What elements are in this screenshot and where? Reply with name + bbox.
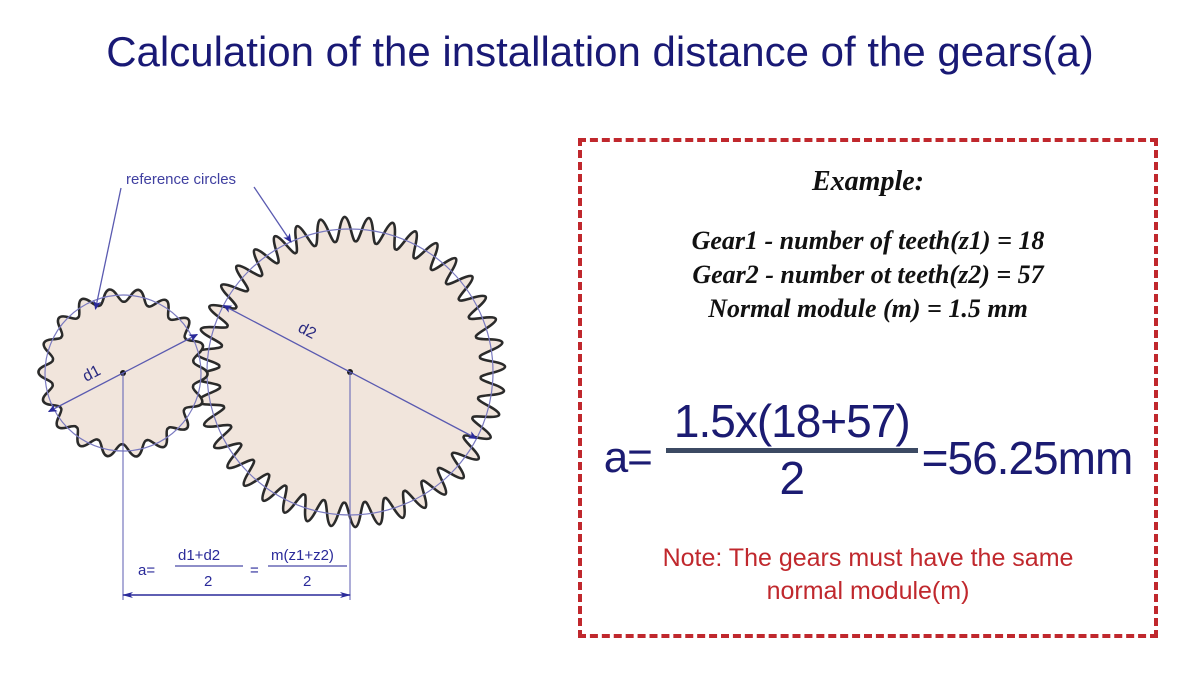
page-title: Calculation of the installation distance…	[0, 28, 1200, 76]
reference-leader-right	[254, 187, 291, 242]
note-line-1: Note: The gears must have the same	[582, 542, 1154, 575]
example-equation: a= 1.5x(18+57) 2 =56.25mm	[582, 397, 1154, 503]
formula-denominator-2: 2	[303, 573, 311, 590]
given-line-gear1: Gear1 - number of teeth(z1) = 18	[582, 224, 1154, 258]
example-heading: Example:	[582, 166, 1154, 198]
equation-fraction: 1.5x(18+57) 2	[666, 397, 918, 503]
given-line-module: Normal module (m) = 1.5 mm	[582, 292, 1154, 326]
given-line-gear2: Gear2 - number ot teeth(z2) = 57	[582, 258, 1154, 292]
note-text: Note: The gears must have the same norma…	[582, 542, 1154, 608]
gear-diagram: d1 d2 reference circles a= d1+d2 2 = m(z…	[0, 130, 560, 650]
formula-numerator-1: d1+d2	[178, 547, 220, 564]
equation-lhs: a=	[604, 420, 666, 480]
gear-diagram-svg: d1 d2 reference circles a= d1+d2 2 = m(z…	[0, 130, 560, 650]
equation-denominator: 2	[779, 454, 804, 502]
center-distance-formula: a= d1+d2 2 = m(z1+z2) 2	[138, 547, 347, 590]
formula-equals: =	[250, 562, 259, 579]
note-line-2: normal module(m)	[582, 575, 1154, 608]
reference-circles-label: reference circles	[126, 171, 236, 188]
formula-numerator-2: m(z1+z2)	[271, 547, 334, 564]
equation-numerator: 1.5x(18+57)	[666, 397, 918, 445]
example-box: Example: Gear1 - number of teeth(z1) = 1…	[578, 138, 1158, 638]
equation-result: =56.25mm	[918, 419, 1133, 481]
formula-lhs: a=	[138, 562, 155, 579]
formula-denominator-1: 2	[204, 573, 212, 590]
example-given-values: Gear1 - number of teeth(z1) = 18 Gear2 -…	[582, 224, 1154, 326]
